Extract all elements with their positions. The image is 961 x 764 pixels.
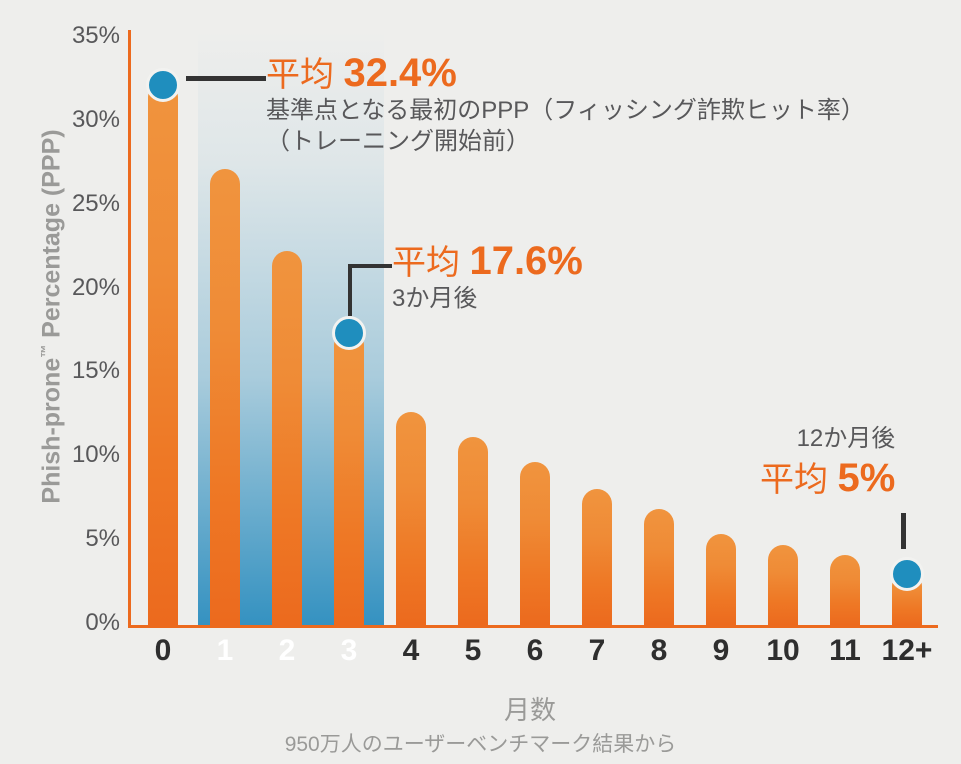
x-axis-line: [128, 625, 938, 628]
chart-page: Phish-prone™ Percentage (PPP) 0%5%10%15%…: [0, 0, 961, 764]
y-axis-tick-label: 30%: [50, 106, 120, 134]
annotation-twelve-months-sub1: 12か月後: [760, 424, 895, 455]
annotation-twelve-months-headline: 平均 5%: [760, 455, 895, 501]
annotation-three-months: 平均 17.6% 3か月後: [392, 238, 583, 315]
annotation-three-months-value: 17.6%: [469, 239, 582, 283]
bar: [644, 509, 674, 625]
annotation-three-months-prefix: 平均: [392, 244, 469, 282]
bar: [396, 412, 426, 625]
y-axis-tick-label: 20%: [50, 274, 120, 302]
bar: [520, 462, 550, 625]
y-axis-line: [128, 30, 131, 628]
leader-line-baseline: [186, 76, 266, 81]
annotation-baseline-value: 32.4%: [343, 51, 456, 95]
chart-footnote: 950万人のユーザーベンチマーク結果から: [0, 728, 961, 758]
leader-line-three-months: [348, 264, 392, 316]
x-axis-tick-label: 12+: [867, 634, 947, 668]
x-axis-title: 月数: [470, 690, 590, 727]
annotation-three-months-sub1: 3か月後: [392, 284, 583, 315]
y-axis-tick-label: 15%: [50, 357, 120, 385]
annotation-baseline-prefix: 平均: [266, 56, 343, 94]
bar: [830, 555, 860, 625]
annotation-baseline-headline: 平均 32.4%: [266, 50, 865, 96]
annotation-twelve-months-value: 5%: [837, 456, 895, 500]
annotation-baseline-sub2: （トレーニング開始前）: [266, 127, 865, 158]
annotation-twelve-months: 12か月後 平均 5%: [760, 424, 895, 501]
bar: [210, 169, 240, 625]
data-point-marker: [332, 316, 366, 350]
annotation-baseline-sub1: 基準点となる最初のPPP（フィッシング詐欺ヒット率）: [266, 96, 865, 127]
bar: [334, 330, 364, 625]
y-axis-tick-label: 0%: [50, 609, 120, 637]
x-axis-tick-labels: トレーニング期間 0123456789101112+: [128, 634, 938, 680]
y-axis-tick-label: 35%: [50, 22, 120, 50]
annotation-baseline: 平均 32.4% 基準点となる最初のPPP（フィッシング詐欺ヒット率） （トレー…: [266, 50, 865, 158]
annotation-twelve-months-prefix: 平均: [760, 461, 837, 499]
annotation-three-months-headline: 平均 17.6%: [392, 238, 583, 284]
y-axis-tick-label: 5%: [50, 525, 120, 553]
bar: [582, 489, 612, 625]
y-axis-tick-label: 10%: [50, 441, 120, 469]
bar: [706, 534, 736, 625]
bar: [148, 82, 178, 625]
leader-line-twelve-months: [901, 513, 906, 549]
y-axis-tick-label: 25%: [50, 190, 120, 218]
data-point-marker: [146, 68, 180, 102]
y-axis-tick-labels: 0%5%10%15%20%25%30%35%: [48, 0, 120, 764]
bar: [272, 251, 302, 625]
bar: [458, 437, 488, 625]
bar: [768, 545, 798, 626]
